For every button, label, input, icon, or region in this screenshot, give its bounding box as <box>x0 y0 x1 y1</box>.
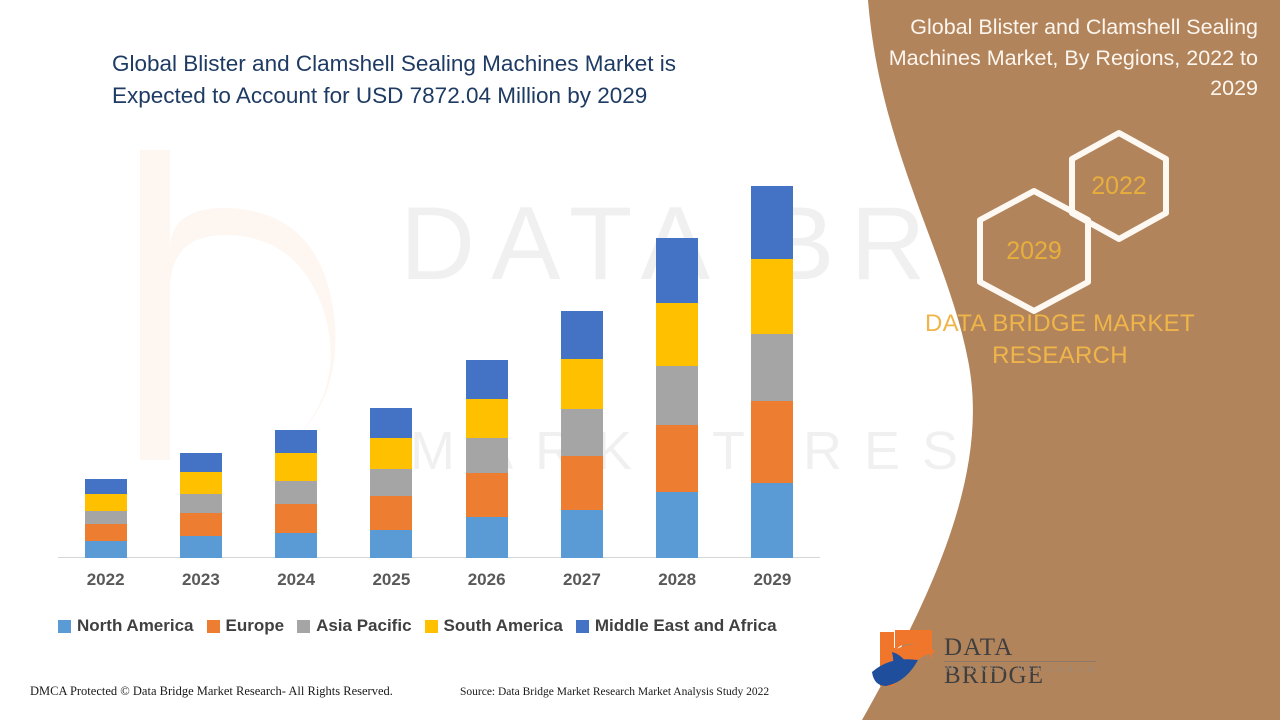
bar-segment <box>85 479 127 494</box>
chart-x-axis-labels: 20222023202420252026202720282029 <box>58 570 820 590</box>
bar-segment <box>466 360 508 399</box>
legend-label: South America <box>444 616 563 636</box>
bar-segment <box>751 259 793 334</box>
bar-segment <box>561 311 603 359</box>
legend-label: Middle East and Africa <box>595 616 777 636</box>
bar-2022 <box>85 479 127 558</box>
bar-segment <box>656 366 698 425</box>
x-axis-label-2023: 2023 <box>180 570 222 590</box>
legend-label: North America <box>77 616 194 636</box>
legend-label: Europe <box>226 616 285 636</box>
logo-subtitle: MARKET RESEARCH <box>946 664 1099 674</box>
bar-segment <box>85 541 127 558</box>
stacked-bar-chart <box>58 150 820 558</box>
legend-item[interactable]: Asia Pacific <box>297 616 411 636</box>
legend-item[interactable]: South America <box>425 616 563 636</box>
bar-segment <box>180 453 222 472</box>
bar-segment <box>85 511 127 524</box>
data-bridge-logo: DATA BRIDGE MARKET RESEARCH <box>862 628 1112 698</box>
bar-segment <box>85 494 127 511</box>
panel-title: Global Blister and Clamshell Sealing Mac… <box>868 12 1258 104</box>
bar-2027 <box>561 311 603 558</box>
bar-segment <box>656 492 698 558</box>
bar-segment <box>466 473 508 517</box>
x-axis-label-2027: 2027 <box>561 570 603 590</box>
bar-segment <box>561 456 603 510</box>
legend-swatch-icon <box>425 620 438 633</box>
bar-segment <box>370 438 412 469</box>
x-axis-label-2024: 2024 <box>275 570 317 590</box>
bar-segment <box>85 524 127 541</box>
bar-segment <box>275 453 317 481</box>
hex-badge-2029: 2029 <box>975 186 1093 316</box>
x-axis-label-2025: 2025 <box>370 570 412 590</box>
bar-2029 <box>751 186 793 558</box>
bar-segment <box>561 409 603 456</box>
x-axis-label-2029: 2029 <box>751 570 793 590</box>
bar-segment <box>561 510 603 558</box>
bar-2024 <box>275 430 317 558</box>
bar-segment <box>466 517 508 558</box>
legend-swatch-icon <box>58 620 71 633</box>
bar-segment <box>656 303 698 366</box>
x-axis-label-2022: 2022 <box>85 570 127 590</box>
bar-segment <box>275 481 317 504</box>
brand-line-2: RESEARCH <box>860 340 1260 372</box>
chart-legend: North AmericaEuropeAsia PacificSouth Ame… <box>58 616 838 636</box>
bar-segment <box>180 472 222 494</box>
bar-segment <box>656 238 698 303</box>
legend-item[interactable]: Europe <box>207 616 285 636</box>
bar-2023 <box>180 453 222 558</box>
right-brand-panel: Global Blister and Clamshell Sealing Mac… <box>840 0 1280 720</box>
legend-label: Asia Pacific <box>316 616 411 636</box>
logo-title: DATA BRIDGE <box>944 634 1112 690</box>
bar-segment <box>656 425 698 492</box>
page-title: Global Blister and Clamshell Sealing Mac… <box>112 48 752 112</box>
brand-name: DATA BRIDGE MARKET RESEARCH <box>860 308 1260 371</box>
bar-2028 <box>656 238 698 558</box>
x-axis-label-2028: 2028 <box>656 570 698 590</box>
bar-segment <box>180 536 222 558</box>
bar-segment <box>466 399 508 438</box>
footer-source-note: Source: Data Bridge Market Research Mark… <box>460 686 769 698</box>
bar-2026 <box>466 360 508 558</box>
bar-segment <box>561 359 603 409</box>
bar-segment <box>370 496 412 530</box>
bar-segment <box>370 408 412 438</box>
legend-item[interactable]: Middle East and Africa <box>576 616 777 636</box>
bar-segment <box>751 334 793 401</box>
logo-divider <box>944 661 1096 662</box>
logo-b-mark-icon <box>862 628 948 694</box>
bar-segment <box>180 494 222 513</box>
bar-segment <box>180 513 222 536</box>
x-axis-label-2026: 2026 <box>466 570 508 590</box>
bar-segment <box>751 483 793 558</box>
legend-item[interactable]: North America <box>58 616 194 636</box>
legend-swatch-icon <box>297 620 310 633</box>
legend-swatch-icon <box>576 620 589 633</box>
bar-segment <box>275 533 317 558</box>
bar-segment <box>370 530 412 558</box>
brand-line-1: DATA BRIDGE MARKET <box>860 308 1260 340</box>
legend-swatch-icon <box>207 620 220 633</box>
bar-segment <box>751 186 793 259</box>
bar-segment <box>275 504 317 533</box>
bar-2025 <box>370 408 412 558</box>
bar-segment <box>751 401 793 483</box>
bar-segment <box>370 469 412 496</box>
bar-segment <box>466 438 508 473</box>
footer-dmca-notice: DMCA Protected © Data Bridge Market Rese… <box>30 684 393 699</box>
infographic-root: DATA BRIDGE MARKET RESEARCH Global Blist… <box>0 0 1280 720</box>
bar-segment <box>275 430 317 453</box>
hexagon-badges: 2022 2029 <box>840 118 1280 298</box>
hex-badge-2029-label: 2029 <box>975 186 1093 316</box>
